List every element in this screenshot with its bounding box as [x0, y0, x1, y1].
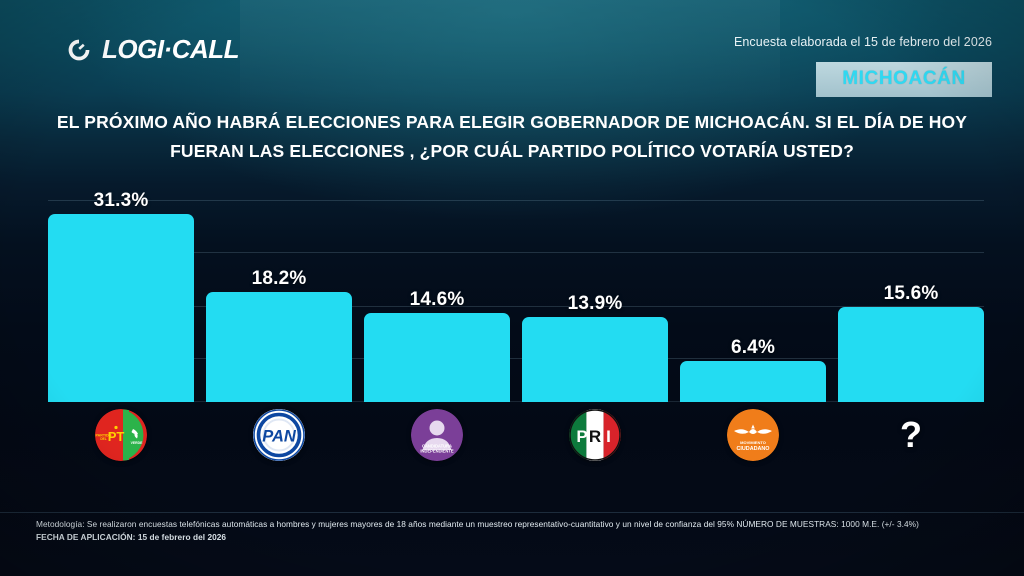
svg-text:INDEPENDIENTE: INDEPENDIENTE: [420, 449, 453, 454]
brand-name: LOGI·CALL: [102, 34, 239, 65]
svg-text:PT: PT: [108, 429, 125, 444]
bar[interactable]: [838, 307, 984, 402]
bar[interactable]: [48, 214, 194, 402]
bar-group: 31.3% 18.2% 14.6% 13.9% 6.4% 15.6%: [48, 198, 984, 402]
pri-logo-svg: P R I: [569, 409, 621, 461]
movimiento-ciudadano-logo-svg: MOVIMIENTO CIUDADANO: [727, 409, 779, 461]
pri-logo: P R I: [569, 409, 621, 461]
svg-text:MOVIMIENTO: MOVIMIENTO: [740, 440, 766, 445]
bar-column: 31.3%: [48, 198, 194, 402]
svg-text:CIUDADANO: CIUDADANO: [737, 446, 770, 452]
bar-value-label: 6.4%: [680, 337, 826, 359]
footer-line-methodology: Metodología: Se realizaron encuestas tel…: [36, 518, 996, 531]
candidatura-independiente-logo-svg: CANDIDATURA INDEPENDIENTE: [411, 409, 463, 461]
svg-text:I: I: [606, 427, 611, 446]
party-logo-cell-pri: P R I: [522, 406, 668, 464]
pt-verde-logo: PARTIDO DEL PT VERDE: [95, 409, 147, 461]
pan-logo-svg: PAN: [253, 409, 305, 461]
bar-column: 14.6%: [364, 198, 510, 402]
bar-value-label: 18.2%: [206, 268, 352, 290]
footer-divider: [0, 512, 1024, 513]
party-logo-cell-pan: PAN: [206, 406, 352, 464]
svg-text:VERDE: VERDE: [131, 441, 143, 445]
question-mark-icon: ?: [900, 417, 922, 453]
poll-question: EL PRÓXIMO AÑO HABRÁ ELECCIONES PARA ELE…: [42, 108, 982, 166]
party-logo-cell-independiente: CANDIDATURA INDEPENDIENTE: [364, 406, 510, 464]
bar-value-label: 31.3%: [48, 190, 194, 212]
movimiento-ciudadano-logo: MOVIMIENTO CIUDADANO: [727, 409, 779, 461]
bar[interactable]: [206, 292, 352, 402]
bar-value-label: 15.6%: [838, 283, 984, 305]
party-logo-row: PARTIDO DEL PT VERDE PAN: [48, 406, 984, 470]
footer-line-date: FECHA DE APLICACIÓN: 15 de febrero del 2…: [36, 531, 996, 544]
svg-text:P: P: [576, 427, 587, 446]
bar-column: 18.2%: [206, 198, 352, 402]
state-badge: MICHOACÁN: [816, 62, 992, 97]
bar-column: 15.6%: [838, 198, 984, 402]
bar[interactable]: [680, 361, 826, 402]
poll-infographic: LOGI·CALL Encuesta elaborada el 15 de fe…: [0, 0, 1024, 576]
bar-column: 6.4%: [680, 198, 826, 402]
candidatura-independiente-logo: CANDIDATURA INDEPENDIENTE: [411, 409, 463, 461]
party-logo-cell-pt-verde: PARTIDO DEL PT VERDE: [48, 406, 194, 464]
header-sheen: [240, 0, 780, 120]
svg-text:DEL: DEL: [100, 437, 106, 441]
party-logo-cell-unknown: ?: [838, 406, 984, 464]
logicall-c-arrow-icon: [66, 37, 92, 63]
brand-logo: LOGI·CALL: [66, 34, 239, 65]
pt-verde-logo-svg: PARTIDO DEL PT VERDE: [95, 409, 147, 461]
bar[interactable]: [364, 313, 510, 402]
bar-chart: 31.3% 18.2% 14.6% 13.9% 6.4% 15.6%: [48, 198, 984, 402]
svg-text:R: R: [589, 427, 601, 446]
bar-value-label: 13.9%: [522, 293, 668, 315]
survey-date: Encuesta elaborada el 15 de febrero del …: [734, 35, 992, 49]
svg-text:PAN: PAN: [262, 428, 297, 446]
bar-value-label: 14.6%: [364, 289, 510, 311]
pan-logo: PAN: [253, 409, 305, 461]
party-logo-cell-movimiento-ciudadano: MOVIMIENTO CIUDADANO: [680, 406, 826, 464]
bar[interactable]: [522, 317, 668, 402]
bar-column: 13.9%: [522, 198, 668, 402]
methodology-footer: Metodología: Se realizaron encuestas tel…: [36, 518, 996, 544]
